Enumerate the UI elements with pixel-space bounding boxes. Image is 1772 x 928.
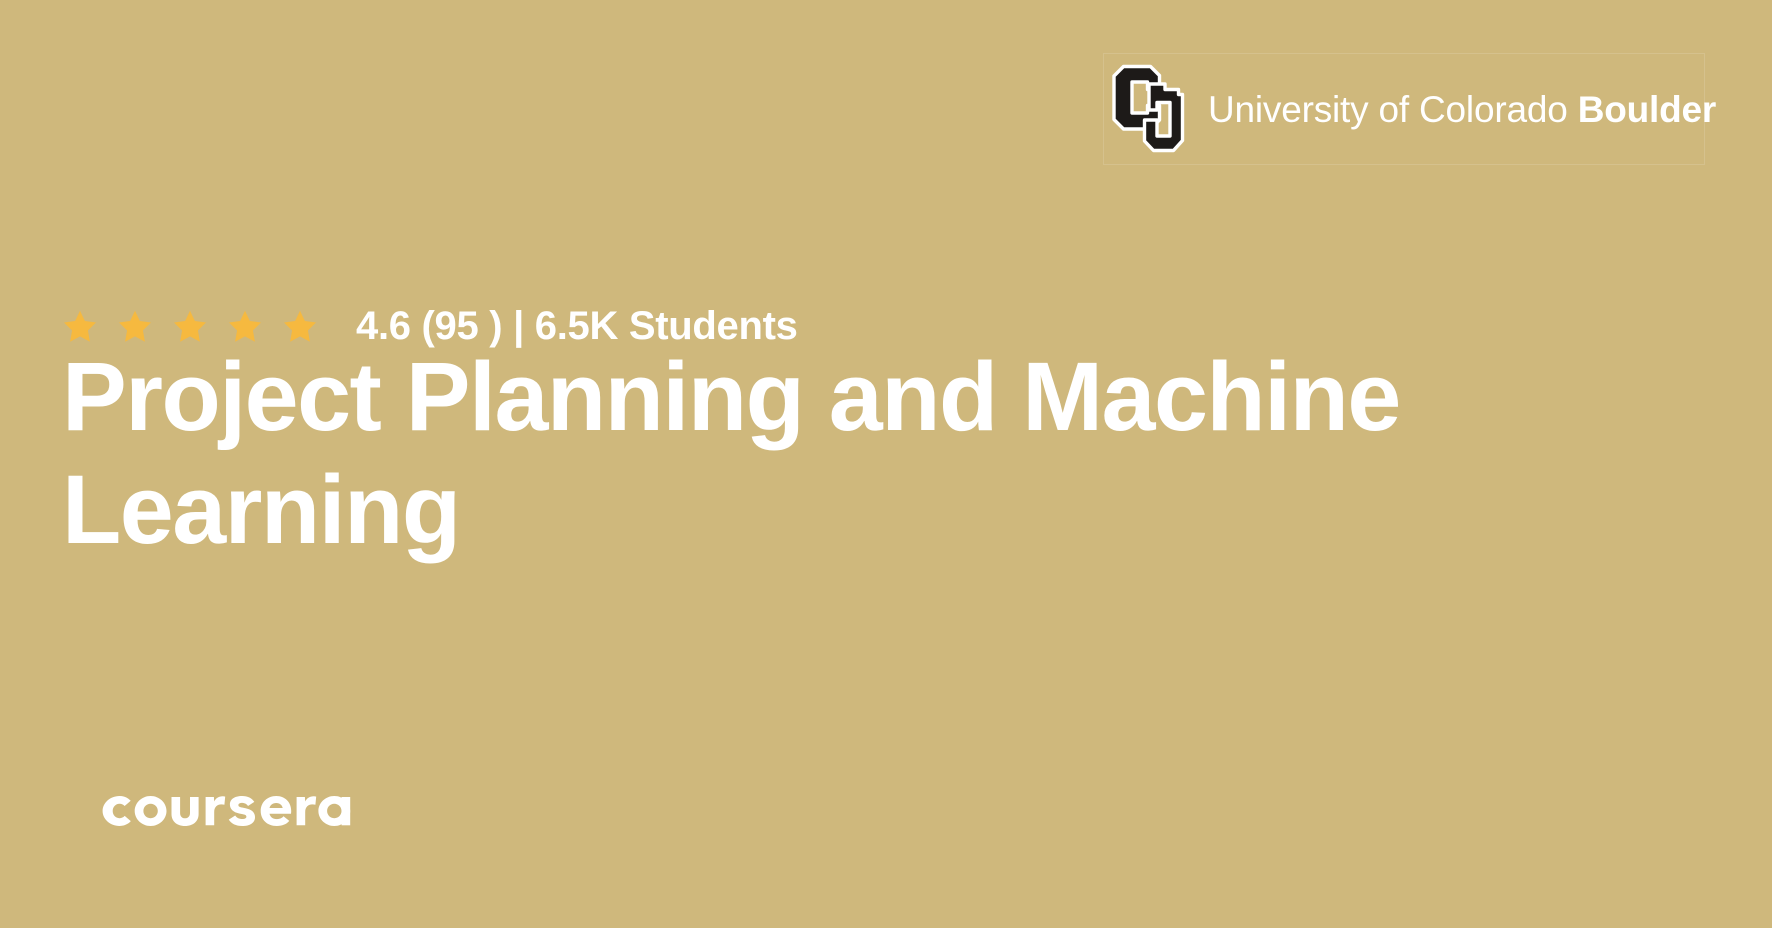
star-icon: [118, 309, 152, 343]
university-name-light: University of Colorado: [1208, 89, 1568, 130]
cu-interlocking-logo-icon: [1109, 64, 1187, 154]
star-icon: [63, 309, 97, 343]
star-icon: [228, 309, 262, 343]
star-icon: [283, 309, 317, 343]
university-name: University of Colorado Boulder: [1208, 91, 1716, 128]
university-campus-label: Boulder: [1578, 89, 1716, 130]
course-banner: University of Colorado Boulder 4.6 (95 )…: [0, 0, 1772, 928]
course-title: Project Planning and Machine Learning: [62, 340, 1542, 566]
university-lockup: University of Colorado Boulder: [1103, 53, 1705, 165]
star-icon: [173, 309, 207, 343]
coursera-wordmark-icon: [97, 780, 355, 830]
